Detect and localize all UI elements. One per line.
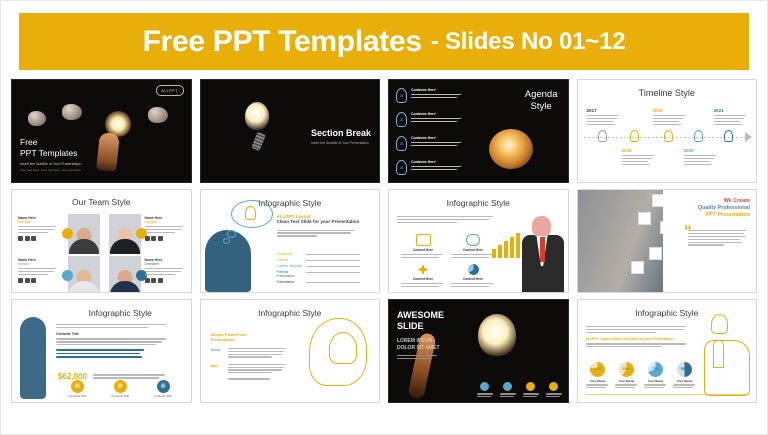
lightbulb-icon — [245, 206, 256, 220]
slide-12-donuts: 80% Your Name 60% Your Name 70% Your Nam… — [586, 362, 697, 388]
slide-9-body: Contents Title — [56, 324, 183, 358]
slide-10-headline-2: Presentation — [211, 337, 291, 342]
slide-2-caption: Section Break Insert the Subtitle of You… — [311, 128, 371, 145]
info-item: Content Here — [401, 264, 445, 287]
donut-item: 50% Your Name — [673, 362, 697, 388]
thought-dot-icon — [223, 238, 230, 244]
linkedin-icon — [158, 278, 163, 283]
slide-thumbnail-1[interactable]: ALLPPT Free PPT Templates Insert the Sub… — [11, 79, 192, 183]
team-member-info: Name Here Director — [18, 258, 58, 283]
pointing-hand-icon — [704, 340, 750, 396]
list-label: Portfolio — [277, 258, 303, 262]
member-badge-icon — [62, 228, 73, 239]
slide-11-chips — [477, 382, 562, 397]
member-badge-icon — [62, 270, 73, 281]
wallet-icon — [416, 234, 431, 246]
donut-item: 80% Your Name — [586, 362, 610, 388]
social-icons[interactable] — [145, 278, 185, 283]
slide-thumbnail-12[interactable]: Infographic Style ALLPPT Layout Clean Te… — [577, 299, 758, 403]
chip-item — [500, 382, 516, 397]
paper-ball-icon — [62, 104, 82, 120]
slide-thumbnail-8[interactable]: We Create Quality Professional PPT Prese… — [577, 189, 758, 293]
team-member-info: Name Here Manager — [18, 216, 58, 241]
timeline-marker-icon — [598, 130, 607, 142]
lightbulb-outline-icon — [329, 332, 357, 364]
linkedin-icon — [31, 236, 36, 241]
info-item: Content Here — [451, 234, 495, 258]
member-role: Designer — [145, 220, 185, 224]
chart-icon: ▤ — [71, 380, 84, 393]
lightbulb-outline-icon — [711, 314, 728, 334]
bulb-base-icon — [251, 132, 266, 151]
lightbulb-glow-icon — [478, 314, 516, 356]
paper-ball-icon — [148, 107, 168, 123]
member-role: Developer — [145, 262, 185, 266]
info-heading: Content Here — [401, 277, 445, 281]
donut-chart: 70% — [648, 362, 663, 377]
agenda-item: 02 Contents Here — [396, 112, 465, 127]
lightbulb-glow-icon — [489, 129, 533, 169]
link-icon — [466, 234, 480, 246]
slide-8-headline-2: Quality Professional — [662, 205, 750, 211]
social-icons[interactable] — [145, 236, 185, 241]
slide-thumbnail-5[interactable]: Our Team Style Name Here Manager Name He… — [11, 189, 192, 293]
member-role: Manager — [18, 220, 58, 224]
list-label: Creative Template — [277, 264, 303, 268]
bar-chart-icon — [492, 233, 520, 258]
slide-11-title-line1: AWESOME — [397, 310, 444, 321]
pie-chart-icon — [468, 264, 479, 275]
hand-illustration — [96, 132, 120, 172]
slide-8-headline-3: PPT Presentation — [662, 212, 750, 218]
twitter-icon — [151, 278, 156, 283]
agenda-item: 04 Contents Here — [396, 160, 465, 175]
team-member-info: Name Here Designer — [145, 216, 185, 241]
slide-11-subtitle-line2: DOLOR SIT AMET — [397, 345, 440, 352]
team-member-info: Name Here Developer — [145, 258, 185, 283]
slide-12-title: Infographic Style — [578, 308, 757, 318]
slide-8-headline-1: We Create — [662, 198, 750, 204]
agenda-item-heading: Contents Here — [411, 88, 465, 92]
facebook-icon — [145, 278, 150, 283]
chip-item — [523, 382, 539, 397]
slide-3-title-line1: Agenda — [525, 89, 558, 101]
agenda-item-heading: Contents Here — [411, 112, 465, 116]
slide-thumbnail-2[interactable]: Section Break Insert the Subtitle of You… — [200, 79, 381, 183]
donut-item: 60% Your Name — [615, 362, 639, 388]
timeline-event: 2018 — [622, 148, 656, 165]
twitter-icon — [25, 236, 30, 241]
card-item: ▤ Contents Title — [69, 380, 87, 399]
slide-9-cards: ▤ Contents Title ▤ Contents Title ▤ Cont… — [56, 380, 185, 399]
slide-11-subtitle: LOREM IPSUM DOLOR SIT AMET — [397, 338, 440, 359]
slide-4-title: Timeline Style — [578, 88, 757, 98]
allppt-logo: ALLPPT — [156, 85, 184, 96]
lightbulb-icon — [245, 102, 269, 130]
bulb-number-icon: 04 — [396, 160, 407, 175]
timeline-marker-icon — [630, 130, 639, 142]
paper-ball-icon — [28, 111, 46, 126]
slide-thumbnail-6[interactable]: Infographic Style ALLPPT Layout Clean Te… — [200, 189, 381, 293]
social-icons[interactable] — [18, 236, 58, 241]
donut-label: Your Name — [615, 379, 639, 383]
page-banner: Free PPT Templates - Slides No 01~12 — [19, 13, 749, 70]
slide-grid: ALLPPT Free PPT Templates Insert the Sub… — [9, 79, 759, 403]
social-icons[interactable] — [18, 278, 58, 283]
timeline-event: 2019 — [653, 108, 687, 125]
twitter-icon — [151, 236, 156, 241]
thought-dot-icon — [227, 230, 236, 238]
slide-11-subtitle-line1: LOREM IPSUM — [397, 338, 440, 345]
linkedin-icon — [158, 236, 163, 241]
slide-8-headline: We Create Quality Professional PPT Prese… — [662, 198, 750, 218]
slide-thumbnail-11[interactable]: AWESOME SLIDE LOREM IPSUM DOLOR SIT AMET — [388, 299, 569, 403]
donut-chart: 80% — [590, 362, 605, 377]
timeline-year: 2017 — [587, 108, 621, 113]
note-icon: ▤ — [114, 380, 127, 393]
slide-6-title: Infographic Style — [201, 198, 380, 208]
info-item: Content Here — [401, 234, 445, 258]
slide-1-footnote: Your text here, Your text here, Your tex… — [20, 168, 81, 172]
timeline-arrow-icon — [745, 132, 752, 142]
slide-10-copy: Simple PowerPoint Presentation Good Bad — [211, 332, 291, 380]
donut-chart: 50% — [677, 362, 692, 377]
slide-6-list: Powerpoint Portfolio Creative Template P… — [277, 252, 361, 284]
lightbulb-glow-icon — [105, 111, 131, 137]
info-heading: Content Here — [451, 248, 495, 252]
timeline-marker-icon — [724, 130, 733, 142]
slide-9-title: Infographic Style — [56, 308, 185, 318]
agenda-item-heading: Contents Here — [411, 160, 465, 164]
slide-11-title: AWESOME SLIDE — [397, 310, 444, 332]
bulb-number-icon: 01 — [396, 88, 407, 103]
slide-thumbnail-4[interactable]: Timeline Style 2017 2019 2021 2018 2020 — [577, 79, 758, 183]
facebook-icon — [18, 236, 23, 241]
slide-7-title: Infographic Style — [389, 198, 568, 208]
monitor-icon: ▤ — [157, 380, 170, 393]
person-silhouette-icon — [20, 317, 46, 399]
timeline-year: 2019 — [653, 108, 687, 113]
slide-7-body — [397, 216, 497, 223]
slide-11-title-line2: SLIDE — [397, 321, 444, 332]
slide-10-title: Infographic Style — [201, 308, 380, 318]
bulb-number-icon: 02 — [396, 112, 407, 127]
card-item: ▤ Contents Title — [111, 380, 129, 399]
slide-2-title: Section Break — [311, 128, 371, 138]
banner-title-sub: - Slides No 01~12 — [431, 28, 626, 56]
agenda-item: 03 Contents Here — [396, 136, 465, 151]
bottom-rule — [585, 394, 750, 395]
info-heading: Content Here — [401, 248, 445, 252]
row-label-good: Good — [211, 348, 225, 358]
chip-item — [477, 382, 493, 397]
list-label: Presentation — [277, 280, 303, 284]
donut-chart: 60% — [619, 362, 634, 377]
list-label: Portfolio Presentation — [277, 270, 303, 278]
template-gallery-page: Free PPT Templates - Slides No 01~12 ALL… — [0, 0, 768, 435]
card-label: Contents Title — [154, 394, 172, 398]
info-item: Content Here — [451, 264, 495, 287]
slide-1-title-line2: PPT Templates — [20, 148, 81, 159]
bulb-number-icon: 03 — [396, 136, 407, 151]
slide-2-subtitle: Insert the Subtitle of Your Presentation — [311, 141, 371, 145]
slide-thumbnail-10[interactable]: Infographic Style Simple PowerPoint Pres… — [200, 299, 381, 403]
card-label: Contents Title — [69, 394, 87, 398]
slide-thumbnail-3[interactable]: Agenda Style 01 Contents Here 02 Content… — [388, 79, 569, 183]
timeline-event: 2021 — [714, 108, 748, 125]
slide-12-body: ALLPPT Layout Clean Text Slide for your … — [586, 326, 690, 347]
slide-1-subtitle: Insert the Subtitle of Your Presentation — [20, 162, 81, 166]
donut-label: Your Name — [673, 379, 697, 383]
card-label: Contents Title — [111, 394, 129, 398]
slide-5-title: Our Team Style — [12, 197, 191, 207]
puzzle-icon — [418, 264, 429, 275]
banner-title-main: Free PPT Templates — [143, 25, 422, 59]
facebook-icon — [18, 278, 23, 283]
list-label: Powerpoint — [277, 252, 303, 256]
timeline-marker-icon — [664, 130, 673, 142]
info-heading: Content Here — [451, 277, 495, 281]
slide-3-title-line2: Style — [525, 101, 558, 113]
donut-label: Your Name — [586, 379, 610, 383]
linkedin-icon — [31, 278, 36, 283]
slide-thumbnail-9[interactable]: Infographic Style Contents Title $62,000… — [11, 299, 192, 403]
donut-label: Your Name — [644, 379, 668, 383]
slide-6-headline-2: Clean Text Slide for your Presentation — [277, 219, 361, 226]
agenda-item: 01 Contents Here — [396, 88, 465, 103]
donut-item: 70% Your Name — [644, 362, 668, 388]
timeline-year: 2020 — [684, 148, 718, 153]
neck-shape — [211, 272, 241, 292]
slide-9-section-heading: Contents Title — [56, 332, 183, 336]
card-item: ▤ Contents Title — [154, 380, 172, 399]
twitter-icon — [25, 278, 30, 283]
member-role: Director — [18, 262, 58, 266]
timeline-event: 2017 — [587, 108, 621, 125]
businessman-illustration — [520, 216, 566, 292]
slide-thumbnail-7[interactable]: Infographic Style Content Here Content H… — [388, 189, 569, 293]
slide-6-copy: ALLPPT Layout Clean Text Slide for your … — [277, 214, 361, 237]
slide-8-quote-body — [688, 230, 748, 246]
index-finger-icon — [713, 340, 724, 368]
timeline-marker-icon — [694, 130, 703, 142]
slide-1-caption: Free PPT Templates Insert the Subtitle o… — [20, 137, 81, 172]
agenda-item-heading: Contents Here — [411, 136, 465, 140]
slide-3-title: Agenda Style — [525, 89, 558, 113]
timeline-event: 2020 — [684, 148, 718, 165]
slide-12-headline: ALLPPT Layout Clean Text Slide for your … — [586, 337, 690, 341]
slide-1-title-line1: Free — [20, 137, 81, 148]
timeline-year: 2018 — [622, 148, 656, 153]
facebook-icon — [145, 236, 150, 241]
chip-item — [546, 382, 562, 397]
row-label-bad: Bad — [211, 364, 225, 374]
timeline-year: 2021 — [714, 108, 748, 113]
